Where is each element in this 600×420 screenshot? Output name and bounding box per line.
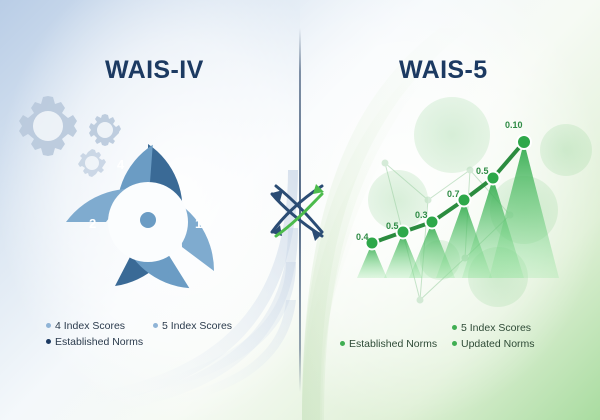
legend-left-label-1: 5 Index Scores	[162, 320, 232, 332]
legend-dot-green	[340, 341, 345, 346]
legend-right-item-0[interactable]: 5 Index Scores	[452, 322, 531, 334]
data-label-5: 0.10	[505, 120, 523, 130]
legend-right-label-1: Established Norms	[349, 338, 437, 350]
legend-dot-navy	[46, 339, 51, 344]
legend-left-label-2: Established Norms	[55, 336, 143, 348]
cone-bars	[357, 142, 559, 278]
legend-right-item-1[interactable]: Established Norms	[340, 338, 437, 350]
legend-left-item-2[interactable]: Established Norms	[46, 336, 143, 348]
line-chart	[0, 0, 600, 420]
data-label-2: 0.3	[415, 210, 428, 220]
data-label-0: 0.4	[356, 232, 369, 242]
data-label-1: 0.5	[386, 221, 399, 231]
legend-left-label-0: 4 Index Scores	[55, 320, 125, 332]
infographic-canvas: WAIS-IV WAIS-5 1	[0, 0, 600, 420]
legend-right-label-2: Updated Norms	[461, 338, 535, 350]
data-label-4: 0.5	[476, 166, 489, 176]
legend-left-item-1[interactable]: 5 Index Scores	[153, 320, 232, 332]
legend-dot-blue-light	[153, 323, 158, 328]
legend-dot-green	[452, 341, 457, 346]
legend-left-item-0[interactable]: 4 Index Scores	[46, 320, 125, 332]
legend-right-label-0: 5 Index Scores	[461, 322, 531, 334]
data-label-3: 0.7	[447, 189, 460, 199]
legend-right-item-2[interactable]: Updated Norms	[452, 338, 535, 350]
legend-dot-blue-light	[46, 323, 51, 328]
legend-dot-green	[452, 325, 457, 330]
